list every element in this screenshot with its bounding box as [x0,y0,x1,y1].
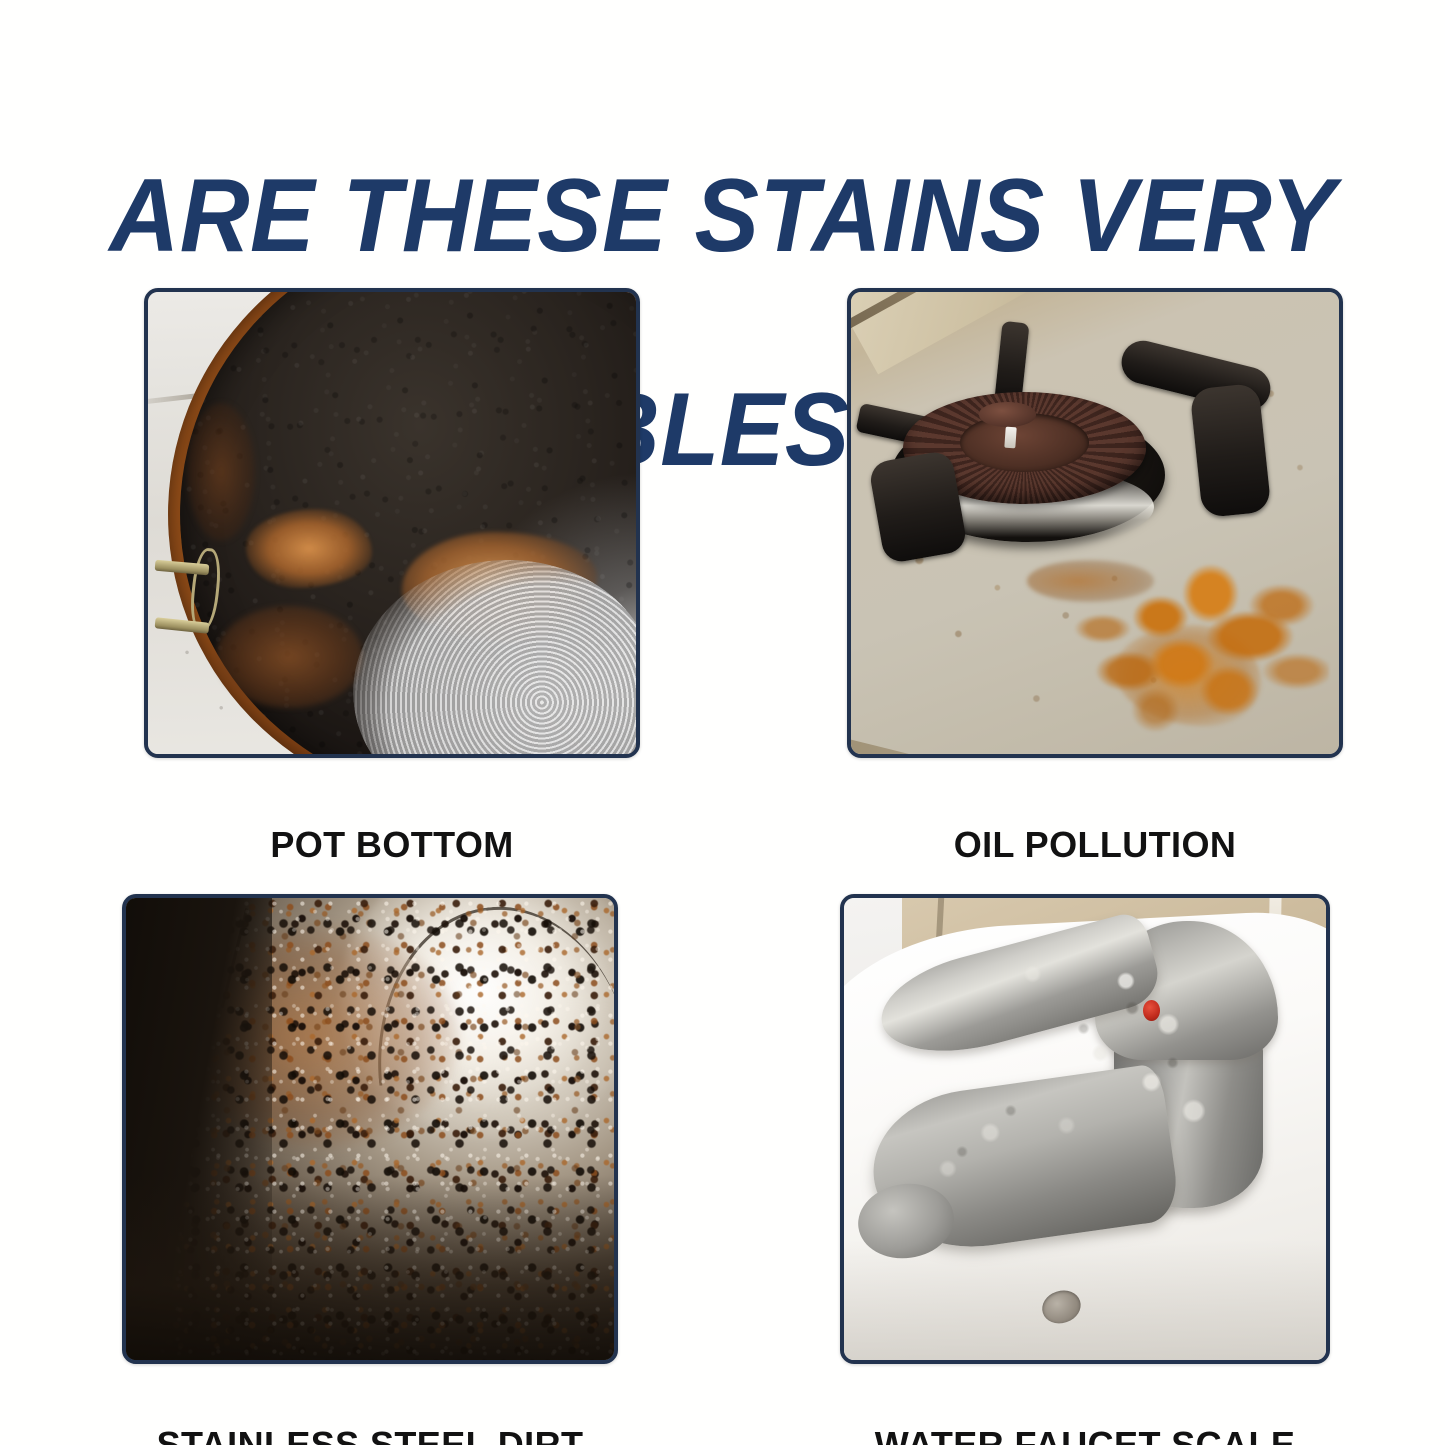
caption-stainless-steel: STAINLESS STEEL DIRT [122,1382,618,1445]
rust-patch-left [187,403,255,542]
photo-frame-water-faucet [840,894,1330,1364]
photo-frame-gas-cooker [847,288,1343,758]
stain-card-pot-bottom: POT BOTTOM STOVE BLACK SCALE [144,288,640,758]
photo-pot-bottom [148,292,636,754]
page-title-line-1: ARE THESE STAINS VERY [51,163,1395,270]
steel-shadow-bottom [126,1175,614,1360]
photo-frame-stainless-steel [122,894,618,1364]
stain-card-stainless-steel: STAINLESS STEEL DIRT [122,894,618,1364]
burner-grate [861,338,1242,606]
rust-patch-lower [216,606,362,708]
stain-card-water-faucet: WATER FAUCET SCALE [840,894,1330,1364]
grate-arm-southwest [868,450,968,565]
burner-cap-knob [979,402,1036,426]
photo-water-faucet [844,898,1326,1360]
promo-poster: ARE THESE STAINS VERY TROUBLESOME? [0,0,1445,1445]
caption-pot-bottom-line-1: POT BOTTOM [270,824,513,865]
caption-gas-cooker-line-1: OIL POLLUTION [954,824,1237,865]
hot-water-indicator-dot [1143,1000,1160,1021]
sink-shadow [844,1240,1326,1360]
caption-water-faucet: WATER FAUCET SCALE [840,1382,1330,1445]
grate-arm-east [1189,383,1271,518]
rust-patch-upper [246,509,373,588]
caption-water-faucet-line-1: WATER FAUCET SCALE [875,1424,1296,1445]
photo-gas-cooker [851,292,1339,754]
photo-frame-pot-bottom [144,288,640,758]
stain-card-gas-cooker: OIL POLLUTION OF GAS COOKER [847,288,1343,758]
caption-stainless-steel-line-1: STAINLESS STEEL DIRT [157,1424,584,1445]
stain-examples-grid: POT BOTTOM STOVE BLACK SCALE [0,288,1445,1418]
photo-stainless-steel [126,898,614,1360]
